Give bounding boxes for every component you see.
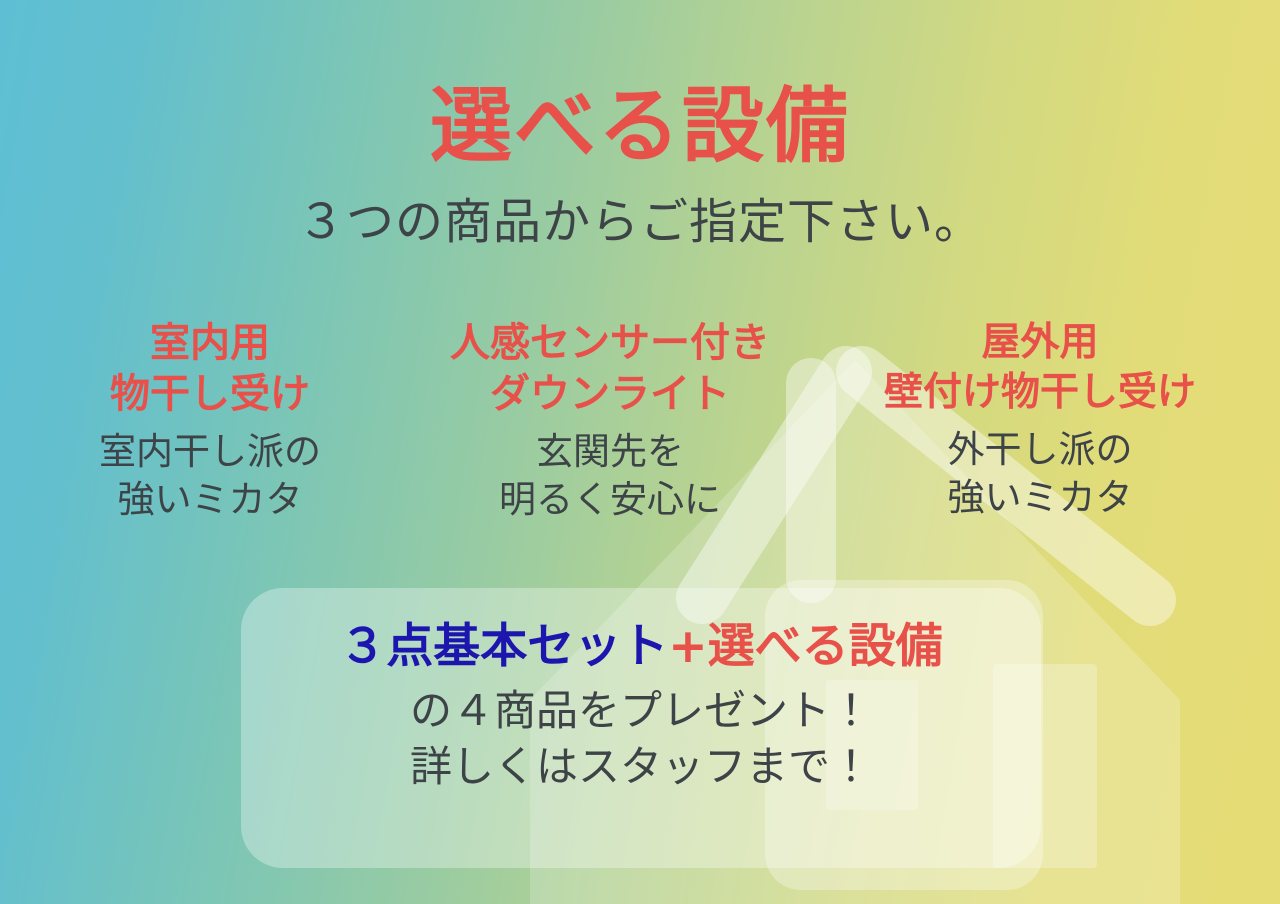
option-title-line1: 人感センサー付き bbox=[400, 318, 820, 369]
option-desc-line2: 明るく安心に bbox=[400, 476, 820, 524]
option-card-downlight[interactable]: 人感センサー付き ダウンライト 玄関先を 明るく安心に bbox=[400, 318, 820, 525]
promo-line-2: 詳しくはスタッフまで！ bbox=[410, 740, 872, 794]
option-columns: 室内用 物干し受け 室内干し派の 強いミカタ 人感センサー付き ダウンライト 玄… bbox=[0, 318, 1280, 525]
option-desc-line2: 強いミカタ bbox=[20, 476, 400, 524]
promo-headline-plus: + bbox=[668, 619, 707, 674]
page-subtitle: ３つの商品からご指定下さい。 bbox=[0, 196, 1280, 250]
option-desc-line1: 玄関先を bbox=[400, 428, 820, 476]
promo-poster: 選べる設備 ３つの商品からご指定下さい。 室内用 物干し受け 室内干し派の 強い… bbox=[0, 0, 1280, 904]
option-title-line2: 壁付け物干し受け bbox=[820, 368, 1260, 418]
option-title: 室内用 物干し受け bbox=[20, 318, 400, 420]
option-desc-line1: 外干し派の bbox=[820, 426, 1260, 474]
promo-headline: ３点基本セット+選べる設備 bbox=[339, 620, 942, 674]
option-card-outdoor[interactable]: 屋外用 壁付け物干し受け 外干し派の 強いミカタ bbox=[820, 318, 1260, 522]
option-description: 玄関先を 明るく安心に bbox=[400, 428, 820, 524]
option-title-line1: 屋外用 bbox=[820, 318, 1260, 368]
option-description: 外干し派の 強いミカタ bbox=[820, 426, 1260, 522]
option-desc-line1: 室内干し派の bbox=[20, 428, 400, 476]
option-title-line1: 室内用 bbox=[20, 318, 400, 369]
option-description: 室内干し派の 強いミカタ bbox=[20, 428, 400, 524]
option-title-line2: ダウンライト bbox=[400, 369, 820, 420]
option-card-indoor[interactable]: 室内用 物干し受け 室内干し派の 強いミカタ bbox=[20, 318, 400, 525]
option-title: 屋外用 壁付け物干し受け bbox=[820, 318, 1260, 418]
promo-line-1: の４商品をプレゼント！ bbox=[410, 684, 872, 738]
poster-content: 選べる設備 ３つの商品からご指定下さい。 室内用 物干し受け 室内干し派の 強い… bbox=[0, 0, 1280, 904]
page-title: 選べる設備 bbox=[0, 84, 1280, 170]
promo-headline-red: 選べる設備 bbox=[708, 619, 943, 674]
promo-panel: ３点基本セット+選べる設備 の４商品をプレゼント！ 詳しくはスタッフまで！ bbox=[241, 588, 1041, 868]
promo-headline-navy: ３点基本セット bbox=[339, 619, 668, 674]
option-desc-line2: 強いミカタ bbox=[820, 474, 1260, 522]
option-title-line2: 物干し受け bbox=[20, 369, 400, 420]
option-title: 人感センサー付き ダウンライト bbox=[400, 318, 820, 420]
